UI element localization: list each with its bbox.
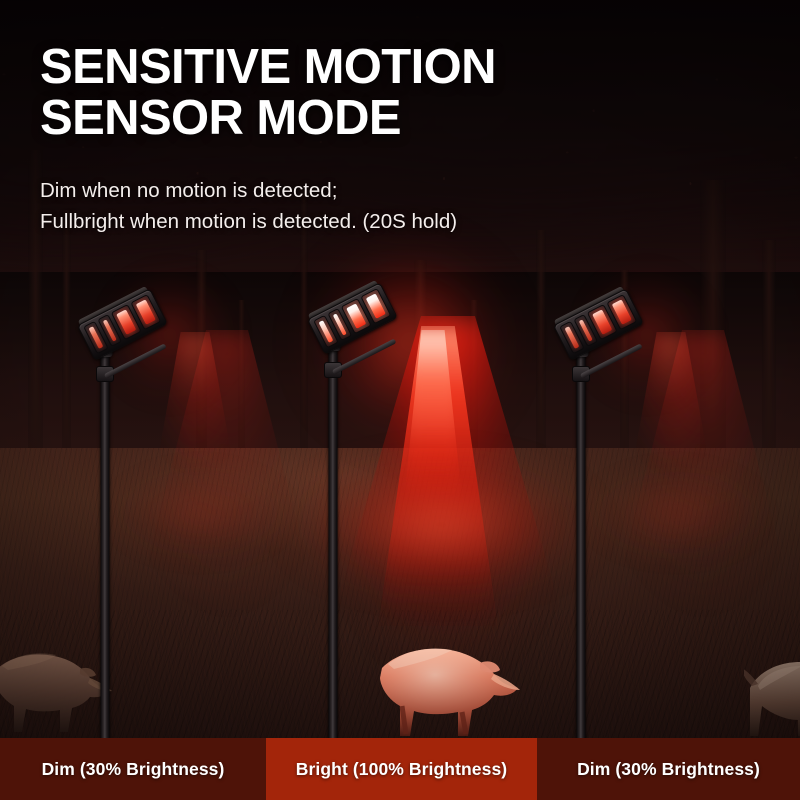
lamp-pole: [101, 352, 110, 768]
led-glow: [346, 303, 366, 328]
brightness-label-bar: Dim (30% Brightness) Bright (100% Bright…: [0, 738, 800, 800]
product-feature-banner: SENSITIVE MOTION SENSOR MODE Dim when no…: [0, 0, 800, 800]
headline-line-1: SENSITIVE MOTION: [40, 40, 496, 94]
label-segment-left: Dim (30% Brightness): [0, 738, 266, 800]
led-glow: [332, 313, 346, 336]
lamp-pole: [577, 352, 586, 768]
label-segment-right: Dim (30% Brightness): [537, 738, 800, 800]
led-glow: [578, 319, 592, 342]
led-glow: [116, 309, 136, 334]
label-segment-center: Bright (100% Brightness): [266, 738, 537, 800]
led-glow: [102, 319, 116, 342]
page-title: SENSITIVE MOTION SENSOR MODE: [40, 42, 680, 144]
led-glow: [592, 309, 612, 334]
subtitle: Dim when no motion is detected; Fullbrig…: [40, 176, 700, 238]
subtitle-line-2: Fullbright when motion is detected. (20S…: [40, 207, 700, 238]
headline-line-2: SENSOR MODE: [40, 93, 680, 144]
lamp-pole: [329, 346, 338, 770]
subtitle-line-1: Dim when no motion is detected;: [40, 176, 700, 207]
